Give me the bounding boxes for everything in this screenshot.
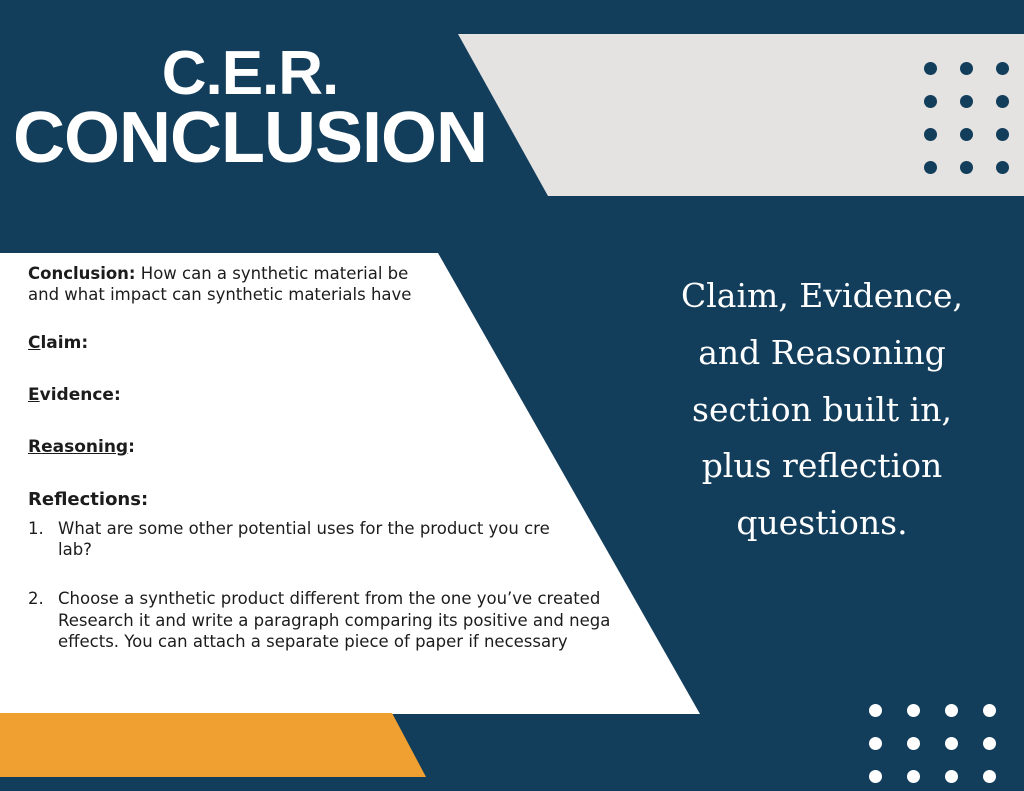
reasoning-colon: : [128, 437, 135, 457]
question-line-2: Research it and write a paragraph compar… [58, 610, 688, 631]
worksheet-reflection-questions: 1. What are some other potential uses fo… [28, 518, 688, 653]
dot [924, 161, 937, 174]
question-line-2: lab? [58, 539, 688, 560]
dot [960, 128, 973, 141]
dot [924, 95, 937, 108]
caption-line-1: Claim, Evidence, [626, 268, 1018, 325]
slide-canvas: C.E.R. CONCLUSION Conclusion: How can a … [0, 0, 1024, 791]
question-line-1: What are some other potential uses for t… [58, 518, 688, 539]
dot [996, 62, 1009, 75]
evidence-rest: vidence: [40, 385, 121, 405]
dot [960, 62, 973, 75]
question-number: 2. [28, 588, 44, 609]
dot [960, 95, 973, 108]
worksheet-reasoning-heading: Reasoning: [28, 436, 688, 458]
caption-line-2: and Reasoning [626, 325, 1018, 382]
title-line-2: CONCLUSION [0, 104, 500, 173]
worksheet-reflections-heading: Reflections: [28, 488, 688, 511]
dot [869, 737, 882, 750]
caption-line-4: plus reflection [626, 438, 1018, 495]
dot [907, 737, 920, 750]
dot [945, 770, 958, 783]
conclusion-label: Conclusion: [28, 264, 136, 283]
dot [983, 737, 996, 750]
worksheet-conclusion-prompt: Conclusion: How can a synthetic material… [28, 263, 688, 306]
reasoning-rest: easoning [41, 437, 128, 457]
question-line-3: effects. You can attach a separate piece… [58, 631, 688, 652]
dot [983, 770, 996, 783]
dot [945, 704, 958, 717]
conclusion-prompt-line-1: How can a synthetic material be [136, 264, 409, 283]
caption-line-5: questions. [626, 495, 1018, 552]
dot [907, 770, 920, 783]
orange-band-decoration [0, 713, 440, 777]
dot [996, 161, 1009, 174]
dot [996, 95, 1009, 108]
dot [907, 704, 920, 717]
list-item: 1. What are some other potential uses fo… [28, 518, 688, 561]
dot [869, 704, 882, 717]
dot [924, 62, 937, 75]
question-number: 1. [28, 518, 44, 539]
worksheet-evidence-heading: Evidence: [28, 384, 688, 406]
dot-grid-top-right [924, 62, 1024, 194]
evidence-initial: E [28, 385, 40, 405]
worksheet-claim-heading: Claim: [28, 332, 688, 354]
dot [869, 770, 882, 783]
title-line-1: C.E.R. [0, 44, 500, 104]
question-line-1: Choose a synthetic product different fro… [58, 588, 688, 609]
dot [996, 128, 1009, 141]
worksheet-text-content: Conclusion: How can a synthetic material… [28, 263, 688, 675]
dot [945, 737, 958, 750]
conclusion-prompt-line-2: and what impact can synthetic materials … [28, 284, 688, 305]
reasoning-initial: R [28, 437, 41, 457]
page-title: C.E.R. CONCLUSION [0, 44, 500, 173]
list-item: 2. Choose a synthetic product different … [28, 588, 688, 652]
worksheet-document-image: Conclusion: How can a synthetic material… [0, 253, 712, 714]
caption-line-3: section built in, [626, 382, 1018, 439]
dot [983, 704, 996, 717]
dot [960, 161, 973, 174]
claim-rest: laim: [40, 333, 88, 353]
dot [924, 128, 937, 141]
dot-grid-bottom-right [869, 704, 1021, 791]
claim-initial: C [28, 333, 40, 353]
caption-text: Claim, Evidence, and Reasoning section b… [626, 268, 1018, 552]
